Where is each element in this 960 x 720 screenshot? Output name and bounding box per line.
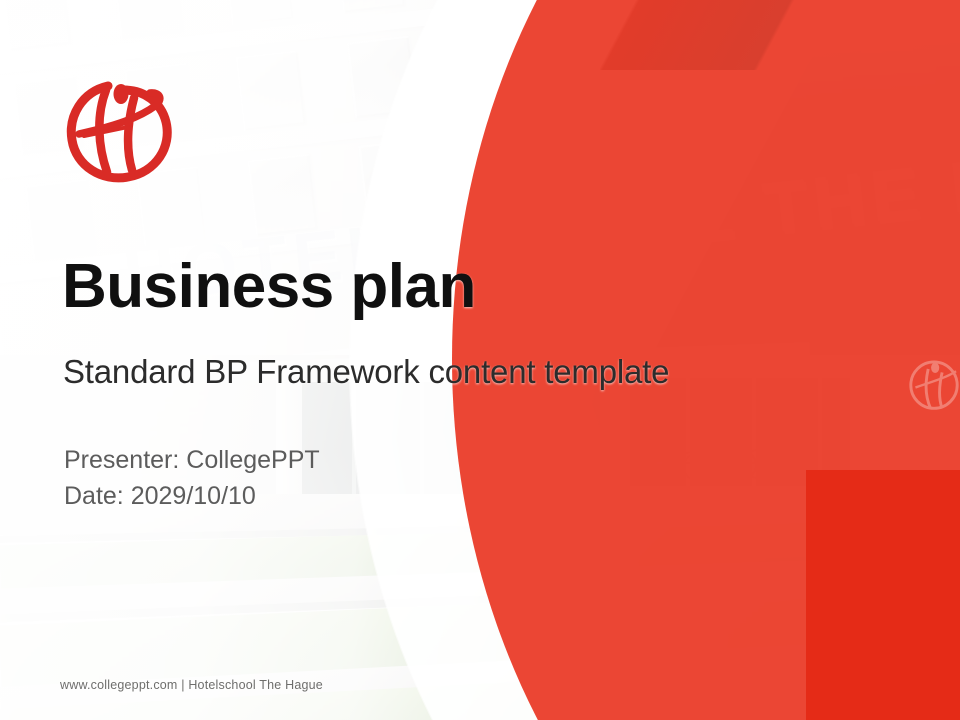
red-arc-solid-corner <box>806 470 960 720</box>
page-title: Business plan <box>62 256 476 318</box>
watermark-logo-icon <box>905 355 960 413</box>
presenter-line: Presenter: CollegePPT <box>64 443 320 479</box>
red-arc-top-wedge <box>600 0 960 70</box>
slide-footer: www.collegeppt.com | Hotelschool The Hag… <box>60 678 323 692</box>
date-line: Date: 2029/10/10 <box>64 479 320 515</box>
presentation-meta: Presenter: CollegePPT Date: 2029/10/10 <box>64 443 320 514</box>
hotelschool-the-hague-logo-icon <box>62 72 180 184</box>
page-subtitle: Standard BP Framework content template <box>63 353 669 391</box>
presentation-slide: HOTELSCHOOL THE HAGUE Business plan Stan… <box>0 0 960 720</box>
